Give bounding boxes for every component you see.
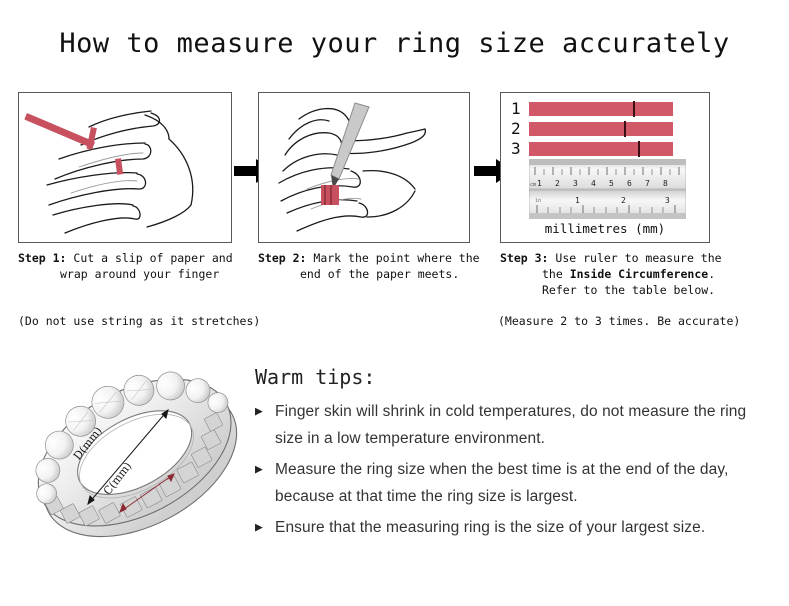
- paper-strip: [529, 122, 673, 136]
- tip-text: Finger skin will shrink in cold temperat…: [275, 398, 755, 452]
- svg-text:1: 1: [537, 179, 542, 188]
- bullet-triangle-icon: ▶: [255, 514, 275, 541]
- svg-text:2: 2: [555, 179, 560, 188]
- svg-text:6: 6: [627, 179, 632, 188]
- paper-strip-wrapped: [86, 127, 123, 175]
- measured-strip-row: 1: [511, 101, 673, 116]
- svg-text:3: 3: [573, 179, 578, 188]
- tip-text: Ensure that the measuring ring is the si…: [275, 514, 755, 541]
- step-3-caption: Step 3: Use ruler to measure the the Ins…: [500, 250, 722, 298]
- hand-with-paper-strip-illustration: [19, 93, 231, 242]
- step-1-text-line2: wrap around your finger: [60, 267, 219, 281]
- ring-diagram-illustration: [22, 352, 252, 557]
- paper-strip-on-finger: [321, 185, 339, 205]
- inside-circumference-emphasis: Inside Circumference: [570, 267, 708, 281]
- svg-text:cm: cm: [530, 182, 536, 188]
- step-3-text-line2-post: .: [708, 267, 715, 281]
- step-2-caption: Step 2: Mark the point where the end of …: [258, 250, 480, 282]
- strip-mark: [633, 101, 635, 117]
- ruler-unit-caption: millimetres (mm): [501, 221, 709, 236]
- paper-strip: [529, 142, 673, 156]
- bullet-triangle-icon: ▶: [255, 456, 275, 483]
- step-1-note: (Do not use string as it stretches): [18, 314, 260, 328]
- measured-strip-row: 3: [511, 141, 673, 156]
- step-3-label: Step 3:: [500, 251, 548, 265]
- hand-marking-paper-illustration: [259, 93, 469, 242]
- svg-text:in: in: [535, 198, 541, 204]
- bullet-triangle-icon: ▶: [255, 398, 275, 425]
- step-1-panel: [18, 92, 232, 243]
- strip-mark: [638, 141, 640, 157]
- tip-item: ▶ Ensure that the measuring ring is the …: [255, 514, 755, 541]
- step-1-caption: Step 1: Cut a slip of paper and wrap aro…: [18, 250, 233, 282]
- svg-text:4: 4: [591, 179, 596, 188]
- svg-text:1: 1: [575, 196, 580, 205]
- pen-icon: [331, 103, 369, 189]
- measured-strip-row: 2: [511, 121, 673, 136]
- ruler-illustration: 123 456 78 cm 123 in: [529, 159, 686, 219]
- step-1-text-line1: Cut a slip of paper and: [73, 251, 232, 265]
- svg-text:3: 3: [665, 196, 670, 205]
- strip-number: 1: [511, 101, 529, 116]
- svg-text:8: 8: [663, 179, 668, 188]
- strip-number: 2: [511, 121, 529, 136]
- tip-item: ▶ Measure the ring size when the best ti…: [255, 456, 755, 510]
- warm-tips-heading: Warm tips:: [255, 365, 375, 389]
- step-3-note: (Measure 2 to 3 times. Be accurate): [498, 314, 740, 328]
- step-1-label: Step 1:: [18, 251, 66, 265]
- step-2-text-line2: end of the paper meets.: [300, 267, 459, 281]
- svg-text:5: 5: [609, 179, 614, 188]
- step-2-panel: [258, 92, 470, 243]
- step-2-label: Step 2:: [258, 251, 306, 265]
- strip-number: 3: [511, 141, 529, 156]
- svg-text:2: 2: [621, 196, 626, 205]
- step-3-text-line3: Refer to the table below.: [542, 283, 715, 297]
- step-3-panel: 1 2 3: [500, 92, 710, 243]
- tip-text: Measure the ring size when the best time…: [275, 456, 755, 510]
- step-3-text-line2-pre: the: [542, 267, 570, 281]
- svg-text:7: 7: [645, 179, 650, 188]
- warm-tips-list: ▶ Finger skin will shrink in cold temper…: [255, 398, 755, 545]
- step-2-text-line1: Mark the point where the: [313, 251, 479, 265]
- paper-strip-loose: [24, 113, 95, 148]
- tip-item: ▶ Finger skin will shrink in cold temper…: [255, 398, 755, 452]
- step-3-text-line1: Use ruler to measure the: [555, 251, 721, 265]
- page-title: How to measure your ring size accurately: [0, 28, 789, 59]
- strip-mark: [624, 121, 626, 137]
- paper-strip: [529, 102, 673, 116]
